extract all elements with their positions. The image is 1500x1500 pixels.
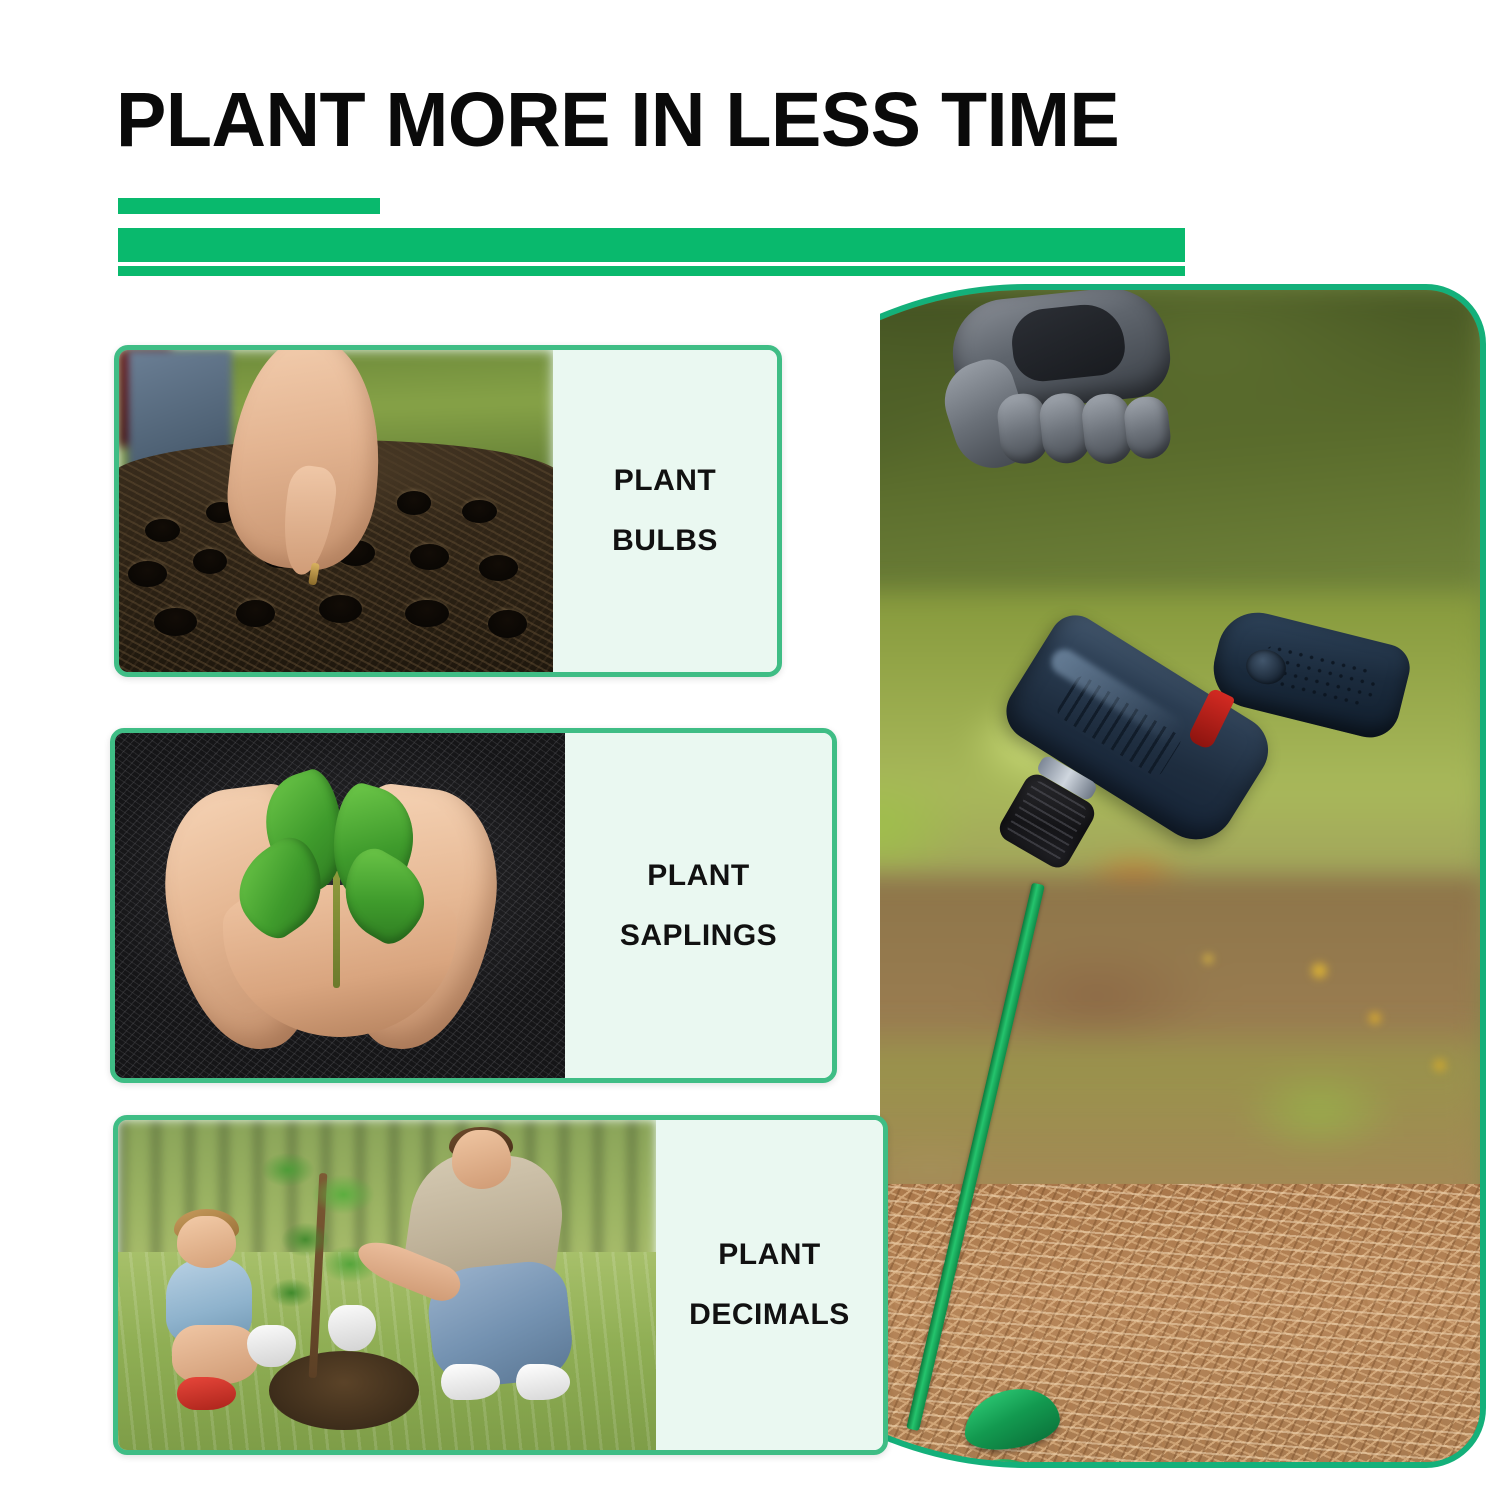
feature-label-line-1: PLANT <box>614 464 717 498</box>
work-glove-hand <box>922 284 1193 516</box>
feature-label-plant-decimals: PLANT DECIMALS <box>656 1120 883 1450</box>
photo-boy-glove <box>247 1325 295 1368</box>
photo-boy-head <box>177 1216 236 1269</box>
photo-man-glove <box>328 1305 376 1351</box>
photo-sapling-stem <box>333 871 340 988</box>
hero-product-photo <box>880 284 1486 1468</box>
feature-card-plant-decimals[interactable]: PLANT DECIMALS <box>113 1115 888 1455</box>
feature-photo-plant-saplings <box>115 733 565 1078</box>
feature-label-line-2: DECIMALS <box>689 1298 850 1332</box>
accent-bar-short <box>118 198 380 214</box>
feature-photo-plant-decimals <box>118 1120 656 1450</box>
cordless-drill <box>1002 570 1432 900</box>
accent-bar-thin <box>118 266 1185 276</box>
photo-tree-canopy <box>236 1133 408 1338</box>
feature-label-plant-bulbs: PLANT BULBS <box>553 350 777 672</box>
hero-image-wrapper <box>880 284 1486 1468</box>
photo-boy-leg <box>172 1325 258 1384</box>
feature-card-plant-bulbs[interactable]: PLANT BULBS <box>114 345 782 677</box>
glove-patch <box>1009 301 1128 384</box>
photo-dug-soil <box>269 1351 420 1430</box>
hero-photo-scene <box>880 284 1486 1468</box>
infographic-canvas: PLANT MORE IN LESS TIME <box>0 0 1500 1500</box>
feature-photo-plant-bulbs <box>119 350 553 672</box>
accent-bar-thick <box>118 228 1185 262</box>
feature-label-line-1: PLANT <box>718 1238 821 1272</box>
feature-label-line-2: SAPLINGS <box>620 919 777 953</box>
feature-card-plant-saplings[interactable]: PLANT SAPLINGS <box>110 728 837 1083</box>
feature-label-line-1: PLANT <box>647 859 750 893</box>
page-title: PLANT MORE IN LESS TIME <box>116 82 1119 159</box>
photo-man-head <box>452 1130 511 1189</box>
feature-label-line-2: BULBS <box>612 524 718 558</box>
feature-label-plant-saplings: PLANT SAPLINGS <box>565 733 832 1078</box>
